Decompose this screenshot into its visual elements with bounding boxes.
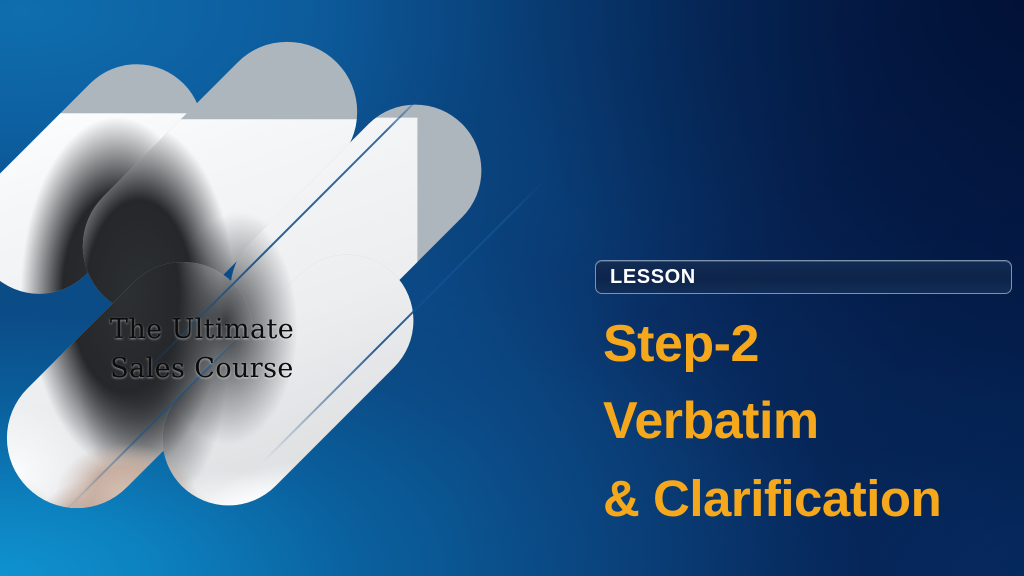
lesson-title: Step-2 Verbatim & Clarification bbox=[603, 306, 1024, 537]
brand-line-2: Sales Course bbox=[72, 349, 332, 388]
lesson-slide: The Ultimate Sales Course LESSON Step-2 … bbox=[0, 0, 1024, 576]
lesson-badge-label: LESSON bbox=[610, 266, 696, 289]
course-brand-wordmark: The Ultimate Sales Course bbox=[72, 310, 332, 388]
lesson-badge: LESSON bbox=[595, 260, 1012, 294]
brand-line-1: The Ultimate bbox=[110, 314, 294, 345]
lesson-title-line-1: Step-2 bbox=[603, 306, 1024, 383]
lesson-title-line-3: & Clarification bbox=[603, 460, 1024, 537]
lesson-title-line-2: Verbatim bbox=[603, 383, 1024, 460]
lesson-text-panel: LESSON Step-2 Verbatim & Clarification bbox=[595, 0, 1024, 576]
handshake-photo-collage: The Ultimate Sales Course bbox=[0, 0, 560, 560]
